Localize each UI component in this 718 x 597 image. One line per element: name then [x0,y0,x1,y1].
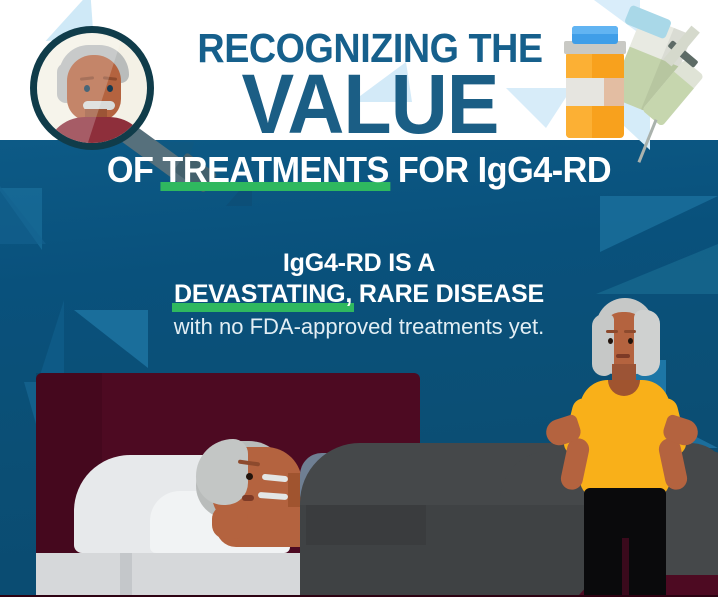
headline-line-3-prefix: OF [107,149,163,190]
patient-eye [246,473,253,480]
mattress-seam [120,553,132,597]
woman-hair-left [592,314,614,376]
callout-highlight: DEVASTATING, [174,279,352,310]
blanket-shadow [306,505,426,545]
headline-group: RECOGNIZING THE VALUE OF TREATMENTS FOR … [0,0,718,210]
woman-eye [628,338,633,344]
shrugging-woman-illustration [540,298,700,597]
woman-eyebrow [624,330,636,333]
callout-line-1: IgG4-RD IS A [0,248,718,279]
headline-line-2: VALUE [182,62,558,146]
headline-line-3-suffix: FOR IgG4-RD [389,149,611,190]
woman-leg-gap [622,538,629,597]
woman-eye [608,338,613,344]
woman-mouth [616,354,630,358]
headline-line-3: OF TREATMENTS FOR IgG4-RD [18,152,700,188]
infographic-canvas: RECOGNIZING THE VALUE OF TREATMENTS FOR … [0,0,718,597]
headline-line-3-highlight: TREATMENTS [162,152,388,188]
woman-eyebrow [606,330,618,333]
woman-hair-right [634,310,660,376]
callout-line-2-rest: RARE DISEASE [352,280,544,308]
patient-hand [212,505,248,539]
patient-mouth [242,495,254,501]
